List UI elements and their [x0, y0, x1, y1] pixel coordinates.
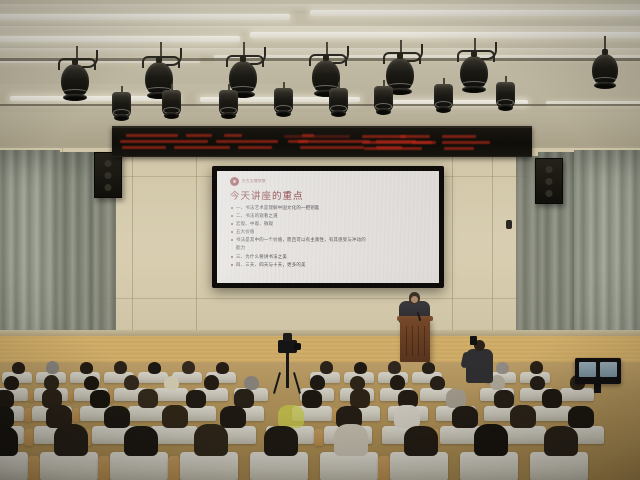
audience-head — [46, 361, 59, 374]
slide-bullet: 一、书法艺术是理解中国文化的一把钥匙 — [231, 205, 432, 211]
slide-bullet: 宏观、中观、微观 — [231, 221, 432, 227]
led-banner — [112, 126, 532, 157]
audience-person — [510, 405, 536, 428]
audience-person — [138, 389, 158, 408]
ceiling-light-strip — [0, 14, 290, 20]
audience-person — [542, 389, 562, 408]
stage-light-fixture-small — [374, 86, 393, 112]
stage-light-fixture-small — [496, 82, 515, 108]
audience-person-foreground — [404, 426, 438, 456]
audience-head — [354, 362, 367, 374]
audience-person-foreground — [124, 426, 158, 456]
audience-person — [186, 390, 206, 408]
stage-curtain-left-inner — [56, 152, 94, 342]
university-logo-icon — [230, 177, 239, 186]
audience-person-foreground — [264, 426, 298, 456]
camera-lens-icon — [294, 343, 301, 350]
stage-light-fixture-small — [112, 92, 131, 118]
ceiling-light-strip — [310, 10, 640, 16]
handheld-phone-icon — [470, 336, 477, 345]
audience-head — [44, 375, 59, 390]
slide-bullet: 五大价值 — [231, 229, 432, 235]
podium — [400, 318, 430, 362]
audience-head — [124, 375, 139, 390]
slide-organization-name: 东方文理学院 — [242, 179, 266, 184]
wall-bracket — [506, 220, 512, 229]
audience-head — [422, 362, 435, 374]
audience-person-foreground — [54, 424, 88, 456]
stage-light-fixture — [61, 64, 89, 98]
slide-title: 今天讲座的重点 — [230, 188, 432, 202]
audience-person-foreground — [474, 424, 508, 456]
audience-head — [148, 362, 161, 374]
audience-head — [164, 376, 179, 390]
audience-head — [204, 375, 219, 390]
ceiling-light-strip — [0, 36, 240, 42]
audience-head — [310, 375, 325, 390]
audience-head — [84, 376, 99, 390]
audience-person-foreground — [544, 426, 578, 456]
audience-person — [568, 406, 594, 428]
projection-screen-surface: 东方文理学院 今天讲座的重点 一、书法艺术是理解中国文化的一把钥匙 二、书法的观… — [217, 171, 439, 283]
stage-light-fixture-small — [329, 88, 348, 114]
audience-head — [12, 362, 25, 374]
audience-person — [104, 406, 130, 428]
slide-branding: 东方文理学院 — [230, 177, 432, 186]
audience-person — [220, 406, 246, 428]
audience-person — [494, 390, 514, 408]
audience-person — [302, 390, 322, 408]
audience-head — [182, 361, 195, 374]
stage-light-fixture-small — [274, 88, 293, 114]
audience-head — [80, 362, 93, 374]
lighting-truss-lower — [0, 104, 640, 106]
audience-head — [496, 362, 509, 374]
auditorium-photo: 东方文理学院 今天讲座的重点 一、书法艺术是理解中国文化的一把钥匙 二、书法的观… — [0, 0, 640, 480]
audience-head — [530, 361, 543, 374]
slide-bullet: 二、书法的观看之道 — [231, 213, 432, 219]
stage-light-fixture — [592, 54, 618, 86]
audience-head — [390, 375, 405, 390]
slide-bullet: 四、三天、四天与十天，更多的美 — [231, 262, 432, 268]
audience-head — [388, 361, 401, 374]
stage-light-fixture-small — [219, 90, 238, 116]
audience-person — [162, 405, 188, 428]
wall-speaker-right — [535, 158, 563, 204]
audience-person-foreground — [194, 424, 228, 456]
stage-light-fixture — [460, 56, 488, 90]
audience-person — [394, 405, 420, 428]
audience-person-foreground — [0, 426, 18, 456]
audience-person — [452, 406, 478, 428]
wall-speaker-left — [94, 152, 122, 198]
audience-person — [278, 405, 304, 428]
audience-head — [216, 362, 229, 374]
presenter-face — [411, 296, 418, 303]
stage-curtain-left — [0, 150, 60, 346]
slide-bullet: 三、为什么要讲书法之美 — [231, 254, 432, 260]
audience-head — [350, 376, 365, 390]
audience-person — [90, 390, 110, 408]
monitor-pane-left — [579, 362, 596, 377]
audience-head — [430, 376, 445, 390]
audience-person-foreground — [334, 424, 368, 456]
stage-curtain-right — [574, 150, 640, 348]
audience-head — [244, 376, 259, 390]
monitor-pane-right — [600, 362, 617, 377]
audience-head — [4, 376, 19, 390]
projection-screen-frame: 东方文理学院 今天讲座的重点 一、书法艺术是理解中国文化的一把钥匙 二、书法的观… — [212, 166, 444, 288]
presentation-slide: 东方文理学院 今天讲座的重点 一、书法艺术是理解中国文化的一把钥匙 二、书法的观… — [217, 171, 439, 283]
slide-bullet: 书法是其中的一个价值，而且可以有主观性，有其感受与冲动的 — [231, 237, 432, 243]
reference-monitor — [575, 358, 621, 384]
ceiling-light-strip — [250, 32, 640, 38]
audience-head — [114, 361, 127, 374]
camera-top-handle — [283, 333, 292, 341]
tripod-column — [286, 352, 289, 388]
stage-light-fixture-small — [434, 84, 453, 110]
monitor-stand — [594, 384, 601, 393]
stage-light-fixture-small — [162, 90, 181, 116]
slide-bullet-continuation: 能力 — [231, 245, 432, 251]
audience-person — [0, 406, 14, 428]
audience-head — [320, 361, 333, 374]
audience-head — [530, 376, 545, 390]
